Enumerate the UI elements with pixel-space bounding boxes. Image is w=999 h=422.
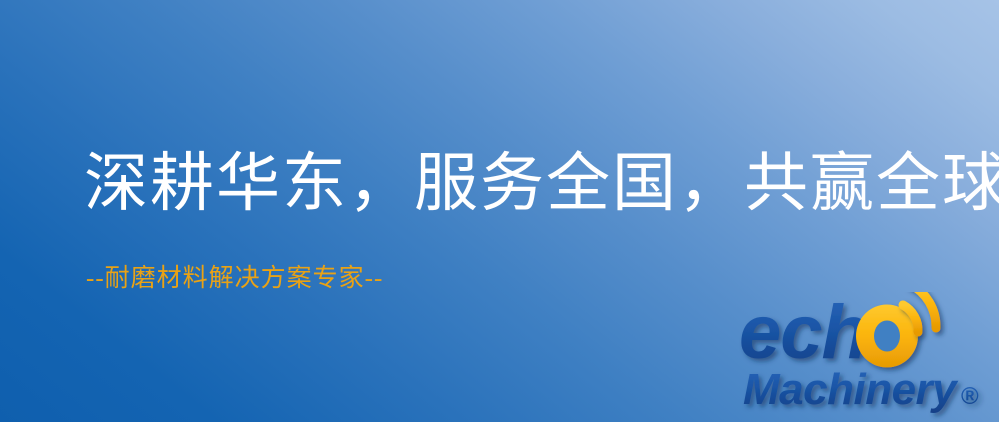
hero-banner: 深耕华东，服务全国，共赢全球 --耐磨材料解决方案专家-- <box>0 0 999 422</box>
logo-svg: ech Machinery ® <box>737 292 999 422</box>
banner-headline: 深耕华东，服务全国，共赢全球 <box>84 152 999 216</box>
svg-text:Machinery: Machinery <box>743 365 959 414</box>
echo-machinery-logo[interactable]: ech Machinery ® <box>737 292 999 422</box>
registered-trademark-icon: ® <box>961 383 979 410</box>
svg-text:ech: ech <box>739 292 867 375</box>
logo-tagline: Machinery ® <box>743 365 979 414</box>
logo-wordmark-echo: ech <box>739 292 918 375</box>
banner-subtitle: --耐磨材料解决方案专家-- <box>86 266 383 291</box>
